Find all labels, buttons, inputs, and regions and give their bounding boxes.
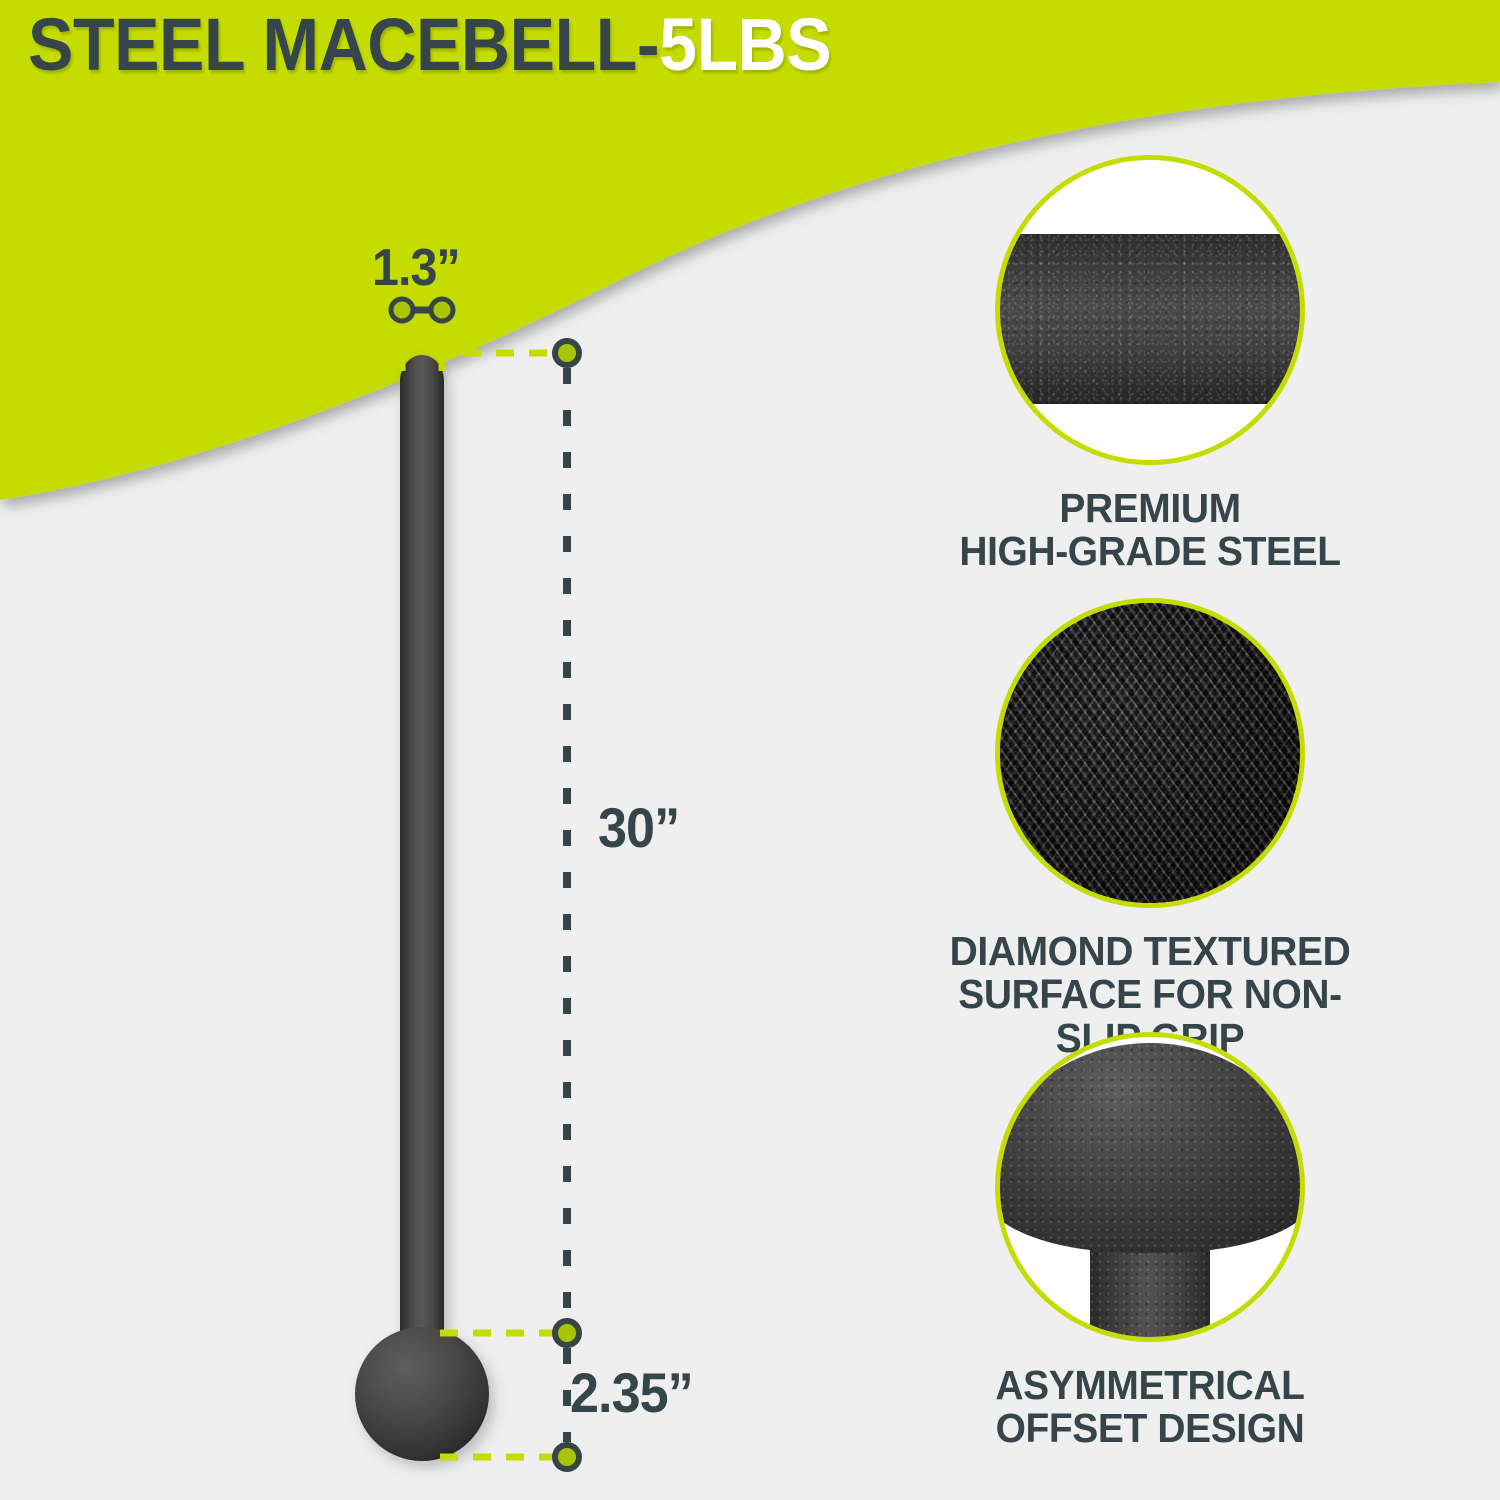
feature-callout-premium-steel: PREMIUM HIGH-GRADE STEEL bbox=[920, 155, 1380, 574]
feature-caption-line1: ASYMMETRICAL bbox=[995, 1362, 1304, 1408]
product-infographic: STEEL MACEBELL-5LBS bbox=[0, 0, 1500, 1500]
dimension-label-overall-length: 30” bbox=[598, 795, 679, 860]
mushroom-dome bbox=[995, 1043, 1305, 1253]
macebell-ball-head bbox=[355, 1327, 489, 1461]
macebell-body bbox=[355, 355, 489, 1461]
steel-bar-surface bbox=[995, 234, 1305, 404]
page-title-product: STEEL MACEBELL- bbox=[28, 3, 659, 86]
page-title-weight: 5LBS bbox=[659, 3, 831, 86]
feature-callout-asymmetrical-design: ASYMMETRICAL OFFSET DESIGN bbox=[920, 1032, 1380, 1451]
dimension-length-marker bbox=[430, 341, 579, 1345]
feature-caption: ASYMMETRICAL OFFSET DESIGN bbox=[932, 1364, 1369, 1451]
page-title: STEEL MACEBELL-5LBS bbox=[28, 8, 831, 82]
mushroom-head-shape bbox=[1000, 1037, 1300, 1337]
feature-caption-line1: DIAMOND TEXTURED bbox=[950, 928, 1351, 974]
macebell-handle bbox=[400, 355, 444, 1380]
mushroom-head-closeup-icon bbox=[995, 1032, 1305, 1342]
feature-caption: PREMIUM HIGH-GRADE STEEL bbox=[932, 487, 1369, 574]
steel-bar-closeup-icon bbox=[995, 155, 1305, 465]
feature-caption-line2: HIGH-GRADE STEEL bbox=[932, 530, 1369, 573]
feature-caption-line1: PREMIUM bbox=[1059, 485, 1240, 531]
dimension-width-marker bbox=[391, 299, 453, 382]
dimension-label-ball-diameter: 2.35” bbox=[570, 1360, 693, 1425]
feature-caption-line2: OFFSET DESIGN bbox=[932, 1407, 1369, 1450]
knurl-surface bbox=[1000, 603, 1300, 903]
feature-callout-diamond-texture: DIAMOND TEXTURED SURFACE FOR NON-SLIP GR… bbox=[920, 598, 1380, 1060]
dimension-label-handle-diameter: 1.3” bbox=[372, 238, 460, 298]
dimension-ball-marker bbox=[440, 1348, 579, 1469]
diamond-knurl-texture-icon bbox=[995, 598, 1305, 908]
